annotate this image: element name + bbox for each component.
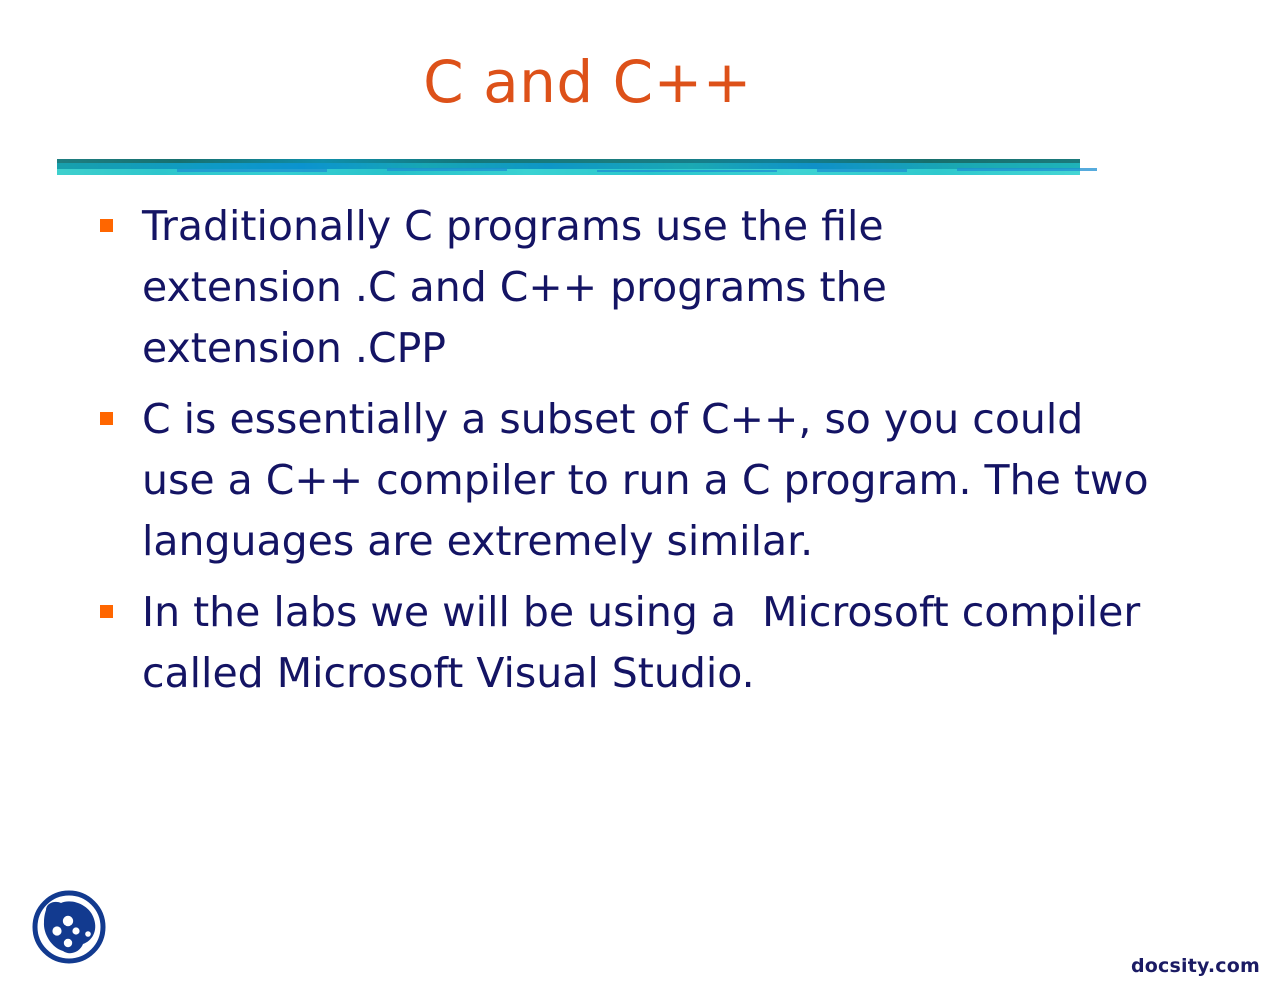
- page-title: C and C++: [0, 52, 1175, 113]
- watermark-text: docsity.com: [1131, 955, 1260, 977]
- list-item: Traditionally C programs use the file ex…: [100, 196, 1180, 379]
- divider-streak: [387, 168, 507, 171]
- square-bullet-icon: [100, 219, 113, 232]
- slide-canvas: C and C++ Traditionally C programs use t…: [0, 0, 1280, 989]
- divider-streak: [817, 169, 907, 172]
- divider-streak: [957, 168, 1097, 171]
- square-bullet-icon: [100, 605, 113, 618]
- divider-streak: [597, 170, 777, 172]
- list-item: C is essentially a subset of C++, so you…: [100, 389, 1180, 572]
- square-bullet-icon: [100, 412, 113, 425]
- list-item-text: C is essentially a subset of C++, so you…: [142, 389, 1167, 572]
- docsity-blob-logo: [28, 886, 110, 968]
- list-item-text: In the labs we will be using a Microsoft…: [142, 582, 1162, 704]
- list-item: In the labs we will be using a Microsoft…: [100, 582, 1180, 704]
- divider-streak: [177, 169, 327, 172]
- list-item-text: Traditionally C programs use the file ex…: [142, 196, 1087, 379]
- title-divider-bar: [57, 159, 1080, 175]
- bullet-list: Traditionally C programs use the file ex…: [100, 196, 1180, 714]
